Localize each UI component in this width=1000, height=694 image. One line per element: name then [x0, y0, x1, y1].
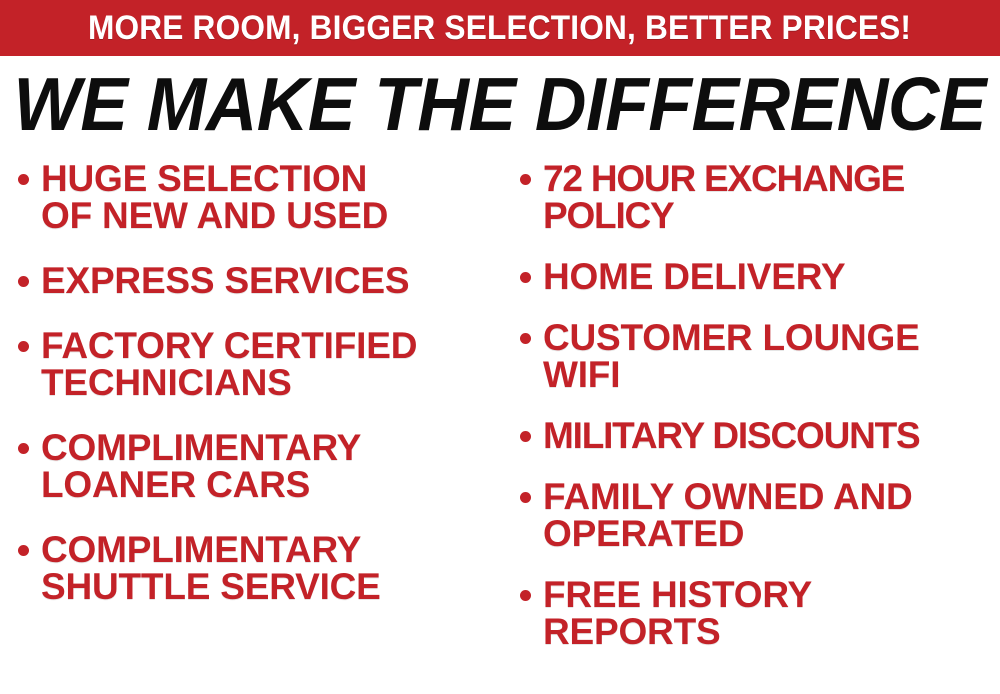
benefit-item: MILITARY DISCOUNTS	[520, 417, 998, 454]
benefit-label: HUGE SELECTION OF NEW AND USED	[41, 160, 388, 234]
bullet-dot-icon	[520, 590, 531, 601]
benefit-item: COMPLIMENTARY SHUTTLE SERVICE	[18, 531, 496, 605]
benefit-item: 72 HOUR EXCHANGE POLICY	[520, 160, 998, 234]
benefit-item: FREE HISTORY REPORTS	[520, 576, 998, 650]
benefit-item: CUSTOMER LOUNGE WIFI	[520, 319, 998, 393]
bullet-dot-icon	[18, 341, 29, 352]
benefit-label: HOME DELIVERY	[543, 258, 845, 295]
promotional-poster: MORE ROOM, BIGGER SELECTION, BETTER PRIC…	[0, 0, 1000, 694]
benefit-label: COMPLIMENTARY LOANER CARS	[41, 429, 361, 503]
benefit-label: COMPLIMENTARY SHUTTLE SERVICE	[41, 531, 381, 605]
benefit-label: FREE HISTORY REPORTS	[543, 576, 812, 650]
top-banner: MORE ROOM, BIGGER SELECTION, BETTER PRIC…	[0, 0, 1000, 56]
bullet-dot-icon	[520, 333, 531, 344]
bullet-dot-icon	[18, 443, 29, 454]
benefit-item: HOME DELIVERY	[520, 258, 998, 295]
benefits-columns: HUGE SELECTION OF NEW AND USED EXPRESS S…	[0, 160, 1000, 694]
bullet-dot-icon	[520, 431, 531, 442]
bullet-dot-icon	[520, 272, 531, 283]
benefit-label: MILITARY DISCOUNTS	[543, 417, 920, 454]
headline-container: WE MAKE THE DIFFERENCE	[0, 60, 1000, 148]
bullet-dot-icon	[18, 276, 29, 287]
benefits-column-left: HUGE SELECTION OF NEW AND USED EXPRESS S…	[0, 160, 500, 694]
benefit-item: COMPLIMENTARY LOANER CARS	[18, 429, 496, 503]
banner-headline-text: MORE ROOM, BIGGER SELECTION, BETTER PRIC…	[88, 11, 911, 45]
benefit-label: CUSTOMER LOUNGE WIFI	[543, 319, 920, 393]
bullet-dot-icon	[18, 545, 29, 556]
benefits-column-right: 72 HOUR EXCHANGE POLICY HOME DELIVERY CU…	[500, 160, 1000, 694]
bullet-dot-icon	[18, 174, 29, 185]
benefit-label: FAMILY OWNED AND OPERATED	[543, 478, 913, 552]
bullet-dot-icon	[520, 492, 531, 503]
benefit-item: EXPRESS SERVICES	[18, 262, 496, 299]
benefit-item: HUGE SELECTION OF NEW AND USED	[18, 160, 496, 234]
benefit-label: EXPRESS SERVICES	[41, 262, 409, 299]
bullet-dot-icon	[520, 174, 531, 185]
benefit-item: FAMILY OWNED AND OPERATED	[520, 478, 998, 552]
benefit-item: FACTORY CERTIFIED TECHNICIANS	[18, 327, 496, 401]
benefit-label: FACTORY CERTIFIED TECHNICIANS	[41, 327, 417, 401]
benefit-label: 72 HOUR EXCHANGE POLICY	[543, 160, 904, 234]
main-headline: WE MAKE THE DIFFERENCE	[14, 66, 987, 142]
